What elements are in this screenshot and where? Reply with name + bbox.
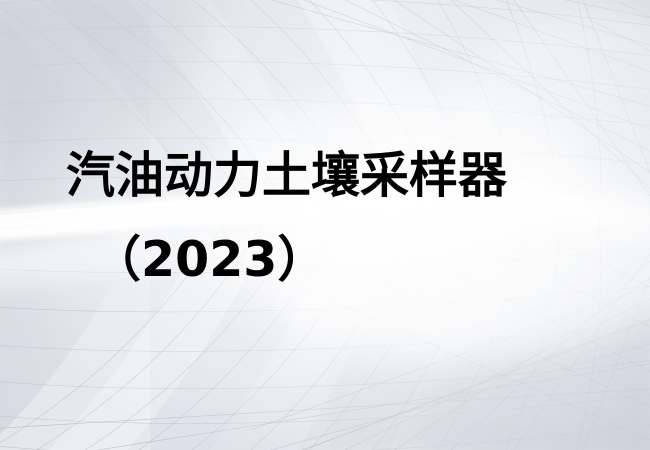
- background-abstract-mesh: [0, 0, 650, 450]
- title-banner: 汽油动力土壤采样器 （2023）: [0, 0, 650, 450]
